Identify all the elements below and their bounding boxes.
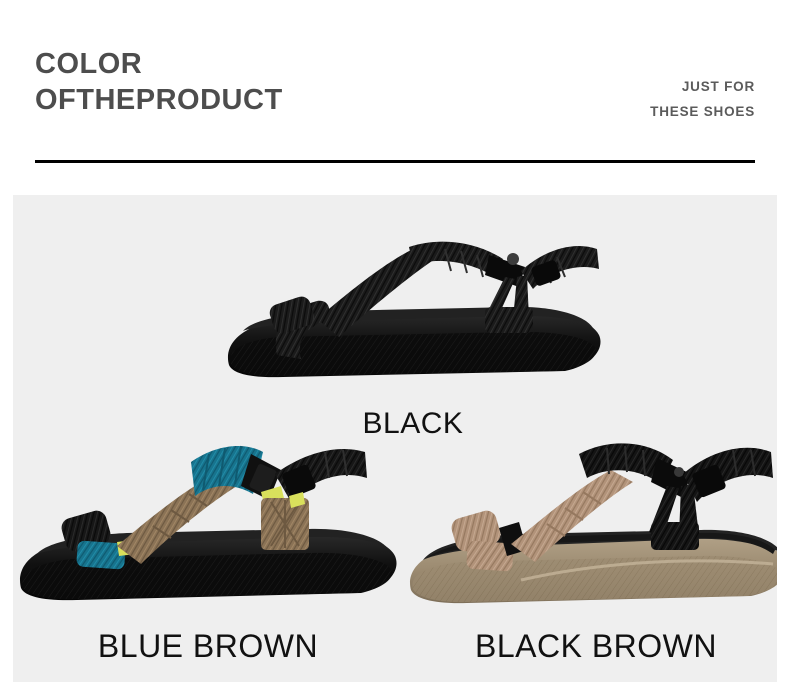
page-title: COLOR OFTHEPRODUCT xyxy=(35,46,283,118)
page-title-line-1: COLOR xyxy=(35,46,283,82)
page-header: COLOR OFTHEPRODUCT JUST FOR THESE SHOES xyxy=(0,0,790,195)
sandal-photo-black xyxy=(213,215,613,400)
product-color-gallery: BLACK xyxy=(13,195,777,682)
buckle-pin-black xyxy=(507,253,519,265)
sandal-photo-blue-brown xyxy=(13,430,403,625)
heel-post-black xyxy=(485,307,533,333)
product-variant-black[interactable]: BLACK xyxy=(213,215,613,435)
header-tagline-line-2: THESE SHOES xyxy=(650,99,755,124)
header-divider xyxy=(35,160,755,163)
buckle-pin-black-brown xyxy=(674,467,684,477)
page-title-line-2: OFTHEPRODUCT xyxy=(35,82,283,118)
product-variant-black-brown[interactable]: BLACK BROWN xyxy=(401,430,777,680)
heel-strap-black xyxy=(521,246,599,289)
header-tagline: JUST FOR THESE SHOES xyxy=(650,74,755,124)
variant-label-black-brown: BLACK BROWN xyxy=(401,628,777,665)
header-tagline-line-1: JUST FOR xyxy=(650,74,755,99)
variant-label-blue-brown: BLUE BROWN xyxy=(13,628,403,665)
product-variant-blue-brown[interactable]: BLUE BROWN xyxy=(13,430,403,680)
sandal-photo-black-brown xyxy=(401,430,777,625)
heel-post-black-brown xyxy=(651,522,699,550)
